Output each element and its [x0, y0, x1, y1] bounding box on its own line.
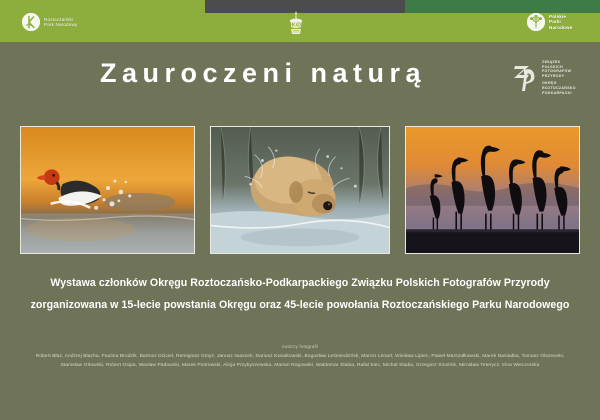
national-parks-emblem-icon	[527, 13, 545, 31]
logo-right-text: Polskie Parki Narodowe	[549, 14, 572, 30]
zpfp-line-5: OKRĘG	[542, 81, 557, 85]
logo-roztoczanski-park-narodowy[interactable]: Roztoczański Park Narodowy	[22, 13, 77, 31]
logo-ministry-crest[interactable]: MKiDN	[285, 10, 307, 40]
exhibition-poster: Roztoczański Park Narodowy MKiDN	[0, 0, 600, 420]
zpfp-line-6: ROZTOCZAŃSKO	[542, 86, 576, 90]
logo-left-line2: Park Narodowy	[44, 22, 77, 27]
photo-cranes-silhouette[interactable]	[405, 126, 580, 254]
zpfp-line-7: PODKARPACKI	[542, 91, 572, 95]
zpfp-line-3: FOTOGRAFÓW	[542, 69, 571, 73]
svg-text:MKiDN: MKiDN	[287, 23, 305, 29]
zpfp-text: ZWIĄZEK POLSKICH FOTOGRAFÓW PRZYRODY OKR…	[542, 60, 576, 95]
park-emblem-icon	[22, 13, 40, 31]
description-line-2: zorganizowana w 15-lecie powstania Okręg…	[0, 299, 600, 311]
coat-of-arms-icon: MKiDN	[285, 10, 307, 40]
logo-polskie-parki-narodowe[interactable]: Polskie Parki Narodowe	[527, 13, 572, 31]
zpfp-line-2: POLSKICH	[542, 65, 563, 69]
photo-wet-dog[interactable]	[210, 126, 390, 254]
credits-line-1: Robert Błaz, Andrzej Blacha, Paulina Bro…	[0, 354, 600, 359]
poster-title: Zauroczeni naturą	[100, 58, 426, 89]
logo-right-line2: Parki	[549, 19, 561, 24]
logo-left-text: Roztoczański Park Narodowy	[44, 17, 77, 28]
logo-right-line3: Narodowe	[549, 25, 572, 30]
credits-line-2: Stanisław Orłowski, Robert Osipa, Wacław…	[0, 363, 600, 368]
logo-zpfp[interactable]: ZWIĄZEK POLSKICH FOTOGRAFÓW PRZYRODY OKR…	[512, 60, 576, 95]
zpfp-line-1: ZWIĄZEK	[542, 60, 560, 64]
credits-label: Autorzy fotografii	[0, 344, 600, 349]
photo-strip	[0, 126, 600, 254]
photo-duck-takeoff[interactable]	[20, 126, 195, 254]
top-strip-green-segment	[405, 0, 600, 13]
logo-left-line1: Roztoczański	[44, 17, 73, 22]
zpfp-line-4: PRZYRODY	[542, 74, 564, 78]
description-line-1: Wystawa członków Okręgu Roztoczańsko-Pod…	[0, 277, 600, 289]
zpfp-monogram-icon	[512, 62, 538, 94]
